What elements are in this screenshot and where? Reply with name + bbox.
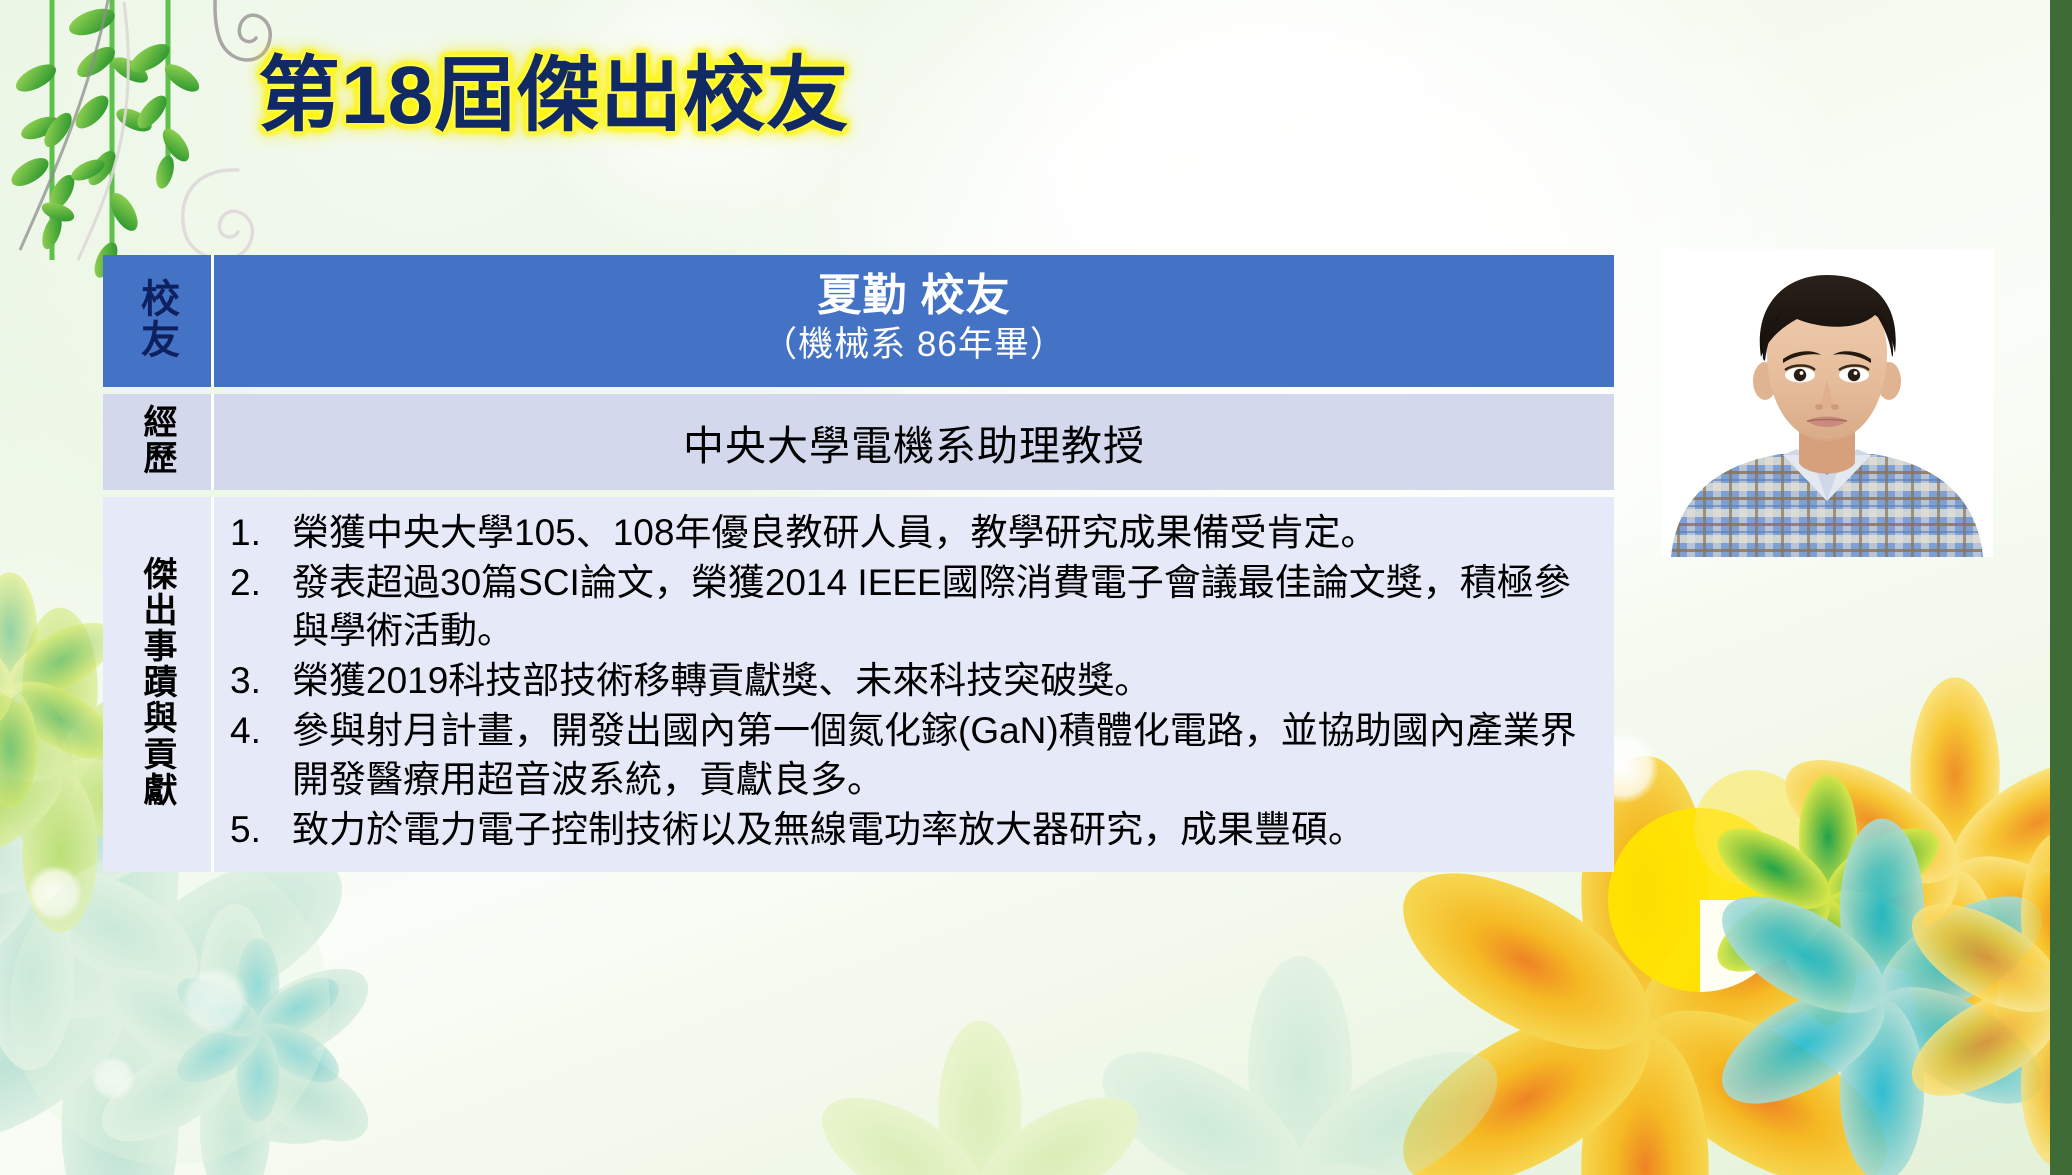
alumni-name-cell: 夏勤 校友 （機械系 86年畢） [214,255,1614,387]
table-row-alumni: 校友 夏勤 校友 （機械系 86年畢） [103,255,1614,387]
achievements-cell: 榮獲中央大學105、108年優良教研人員，教學研究成果備受肯定。發表超過30篇S… [214,497,1614,872]
right-edge-strip [2050,0,2072,1175]
spacer-cell-right-2 [214,490,1614,497]
experience-value: 中央大學電機系助理教授 [214,394,1614,490]
achievement-item: 參與射月計畫，開發出國內第一個氮化鎵(GaN)積體化電路，並協助國內產業界開發醫… [286,707,1584,803]
achievement-item: 榮獲2019科技部技術移轉貢獻獎、未來科技突破獎。 [286,657,1584,705]
page-title: 第18屆傑出校友 [258,51,849,141]
row-label-experience-cell: 經歷 [103,394,214,490]
achievement-item: 發表超過30篇SCI論文，榮獲2014 IEEE國際消費電子會議最佳論文獎，積極… [286,559,1584,655]
table-row-spacer-2 [103,490,1614,497]
row-label-alumni: 校友 [138,278,177,360]
row-label-experience: 經歷 [140,404,174,476]
row-label-achievements: 傑出事蹟與貢獻 [140,556,174,808]
alumni-department: （機械系 86年畢） [224,322,1604,368]
achievements-list: 榮獲中央大學105、108年優良教研人員，教學研究成果備受肯定。發表超過30篇S… [214,509,1600,854]
slide-canvas: 第18屆傑出校友 校友 夏勤 校友 （機械系 86年畢） 經歷 [0,0,2072,1175]
alumni-photo [1661,249,1993,557]
achievement-item: 榮獲中央大學105、108年優良教研人員，教學研究成果備受肯定。 [286,509,1584,557]
table-row-achievements: 傑出事蹟與貢獻 榮獲中央大學105、108年優良教研人員，教學研究成果備受肯定。… [103,497,1614,872]
spacer-cell-right [214,387,1614,394]
table-row-experience: 經歷 中央大學電機系助理教授 [103,394,1614,490]
alumni-name: 夏勤 校友 [224,271,1604,322]
alumni-info-table: 校友 夏勤 校友 （機械系 86年畢） 經歷 中央大學電機系助理教授 [103,255,1614,872]
spacer-cell-left-2 [103,490,214,497]
table-row-spacer-1 [103,387,1614,394]
row-label-alumni-cell: 校友 [103,255,214,387]
achievement-item: 致力於電力電子控制技術以及無線電功率放大器研究，成果豐碩。 [286,806,1584,854]
spacer-cell-left [103,387,214,394]
row-label-achievements-cell: 傑出事蹟與貢獻 [103,497,214,872]
